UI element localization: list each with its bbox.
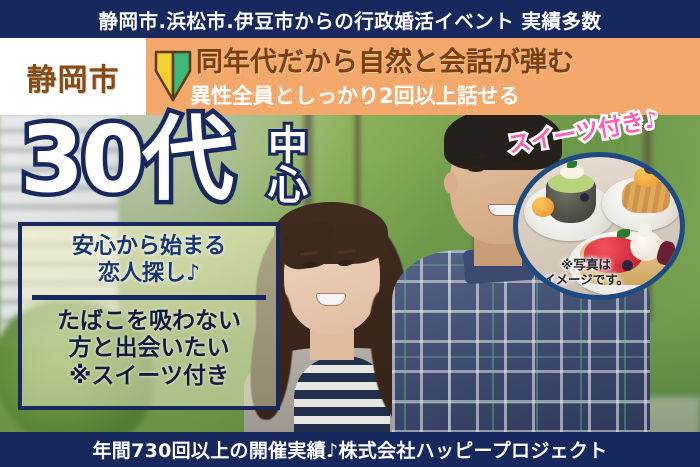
subheadline-text: 異性全員としっかり2回以上話せる — [190, 80, 520, 110]
info-bottom-line: 方と出会いたい — [28, 335, 270, 363]
age-callout: 30代 中心 — [20, 118, 320, 226]
info-box-divider — [32, 295, 266, 300]
headline-orange-band: 同年代だから自然と会話が弾む 異性全員としっかり2回以上話せる — [146, 38, 700, 115]
bottom-company-bar: 年間730回以上の開催実績♪株式会社ハッピープロジェクト — [0, 432, 700, 467]
info-top-line: 安心から始まる — [28, 234, 270, 261]
wakaba-beginner-mark-icon — [154, 49, 192, 103]
headline-text: 同年代だから自然と会話が弾む — [196, 40, 574, 79]
info-bottom-line: たばこを吸わない — [28, 308, 270, 336]
top-tagline-text: 静岡市.浜松市.伊豆市からの行政婚活イベント 実績多数 — [98, 5, 601, 34]
info-bottom-line: ※スイーツ付き — [28, 363, 270, 391]
sweets-disclaimer-line: ※写真は — [532, 257, 640, 273]
bottom-company-text: 年間730回以上の開催実績♪株式会社ハッピープロジェクト — [92, 436, 607, 463]
info-box-top: 安心から始まる 恋人探し♪ — [28, 234, 270, 288]
chocolate-topping — [644, 163, 658, 174]
age-main-text: 30代 — [20, 114, 231, 206]
age-sub-text: 中心 — [245, 124, 303, 204]
mint-leaf — [567, 161, 577, 168]
city-chip-label: 静岡市 — [27, 55, 120, 99]
cream-dollop — [638, 223, 652, 237]
city-chip: 静岡市 — [0, 38, 146, 115]
blueberry — [580, 193, 589, 202]
event-banner: 静岡市.浜松市.伊豆市からの行政婚活イベント 実績多数 静岡市 同年代だから自然… — [0, 0, 700, 467]
sweets-disclaimer-line: イメージです。 — [532, 272, 640, 288]
info-top-line: 恋人探し♪ — [28, 261, 270, 288]
info-box: 安心から始まる 恋人探し♪ たばこを吸わない 方と出会いたい ※スイーツ付き — [18, 222, 280, 410]
mint-leaf — [617, 229, 630, 238]
sweets-disclaimer: ※写真は イメージです。 — [532, 257, 640, 288]
top-tagline-bar: 静岡市.浜松市.伊豆市からの行政婚活イベント 実績多数 — [0, 0, 700, 38]
orange-fruit — [532, 197, 554, 217]
sweets-photo-circle: ※写真は イメージです。 — [513, 152, 685, 300]
headline-row: 静岡市 同年代だから自然と会話が弾む 異性全員としっかり2回以上話せる — [0, 38, 700, 115]
info-box-bottom: たばこを吸わない 方と出会いたい ※スイーツ付き — [28, 308, 270, 391]
